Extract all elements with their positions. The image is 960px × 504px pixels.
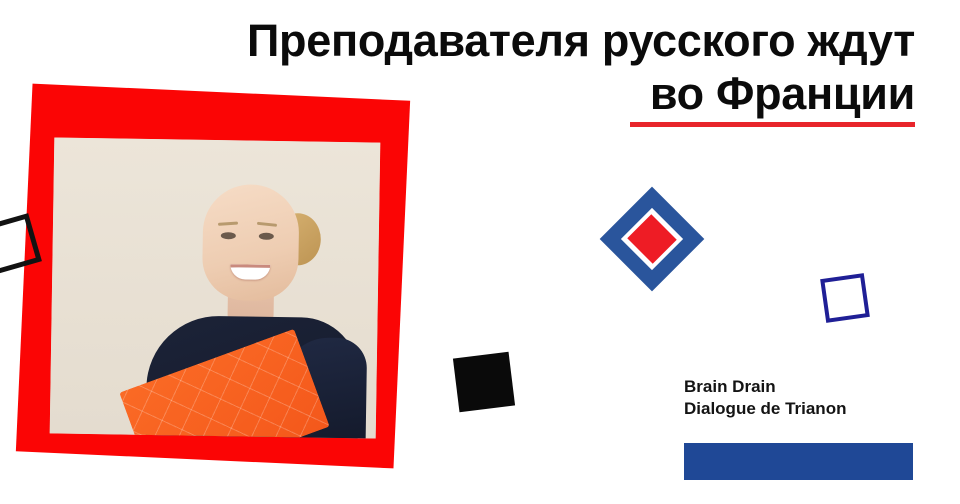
brand-line-1: Brain Drain [684,376,916,398]
fringe-shape [199,170,304,216]
photo-card [14,86,412,472]
slide-canvas: Преподавателя русского ждут во Франции [0,0,960,504]
eye-left-shape [221,232,236,239]
black-square-icon [453,352,515,412]
brand-text-block: Brain Drain Dialogue de Trianon [684,376,916,421]
brand-blue-bar [684,443,913,480]
brand-line-2: Dialogue de Trianon [684,398,916,420]
photo-frame [50,137,381,438]
title-line-1: Преподавателя русского ждут [170,14,915,67]
portrait-photo [50,137,381,438]
title-underline-rule [630,122,915,127]
eye-right-shape [259,233,274,240]
blue-outline-square-icon [820,273,870,323]
